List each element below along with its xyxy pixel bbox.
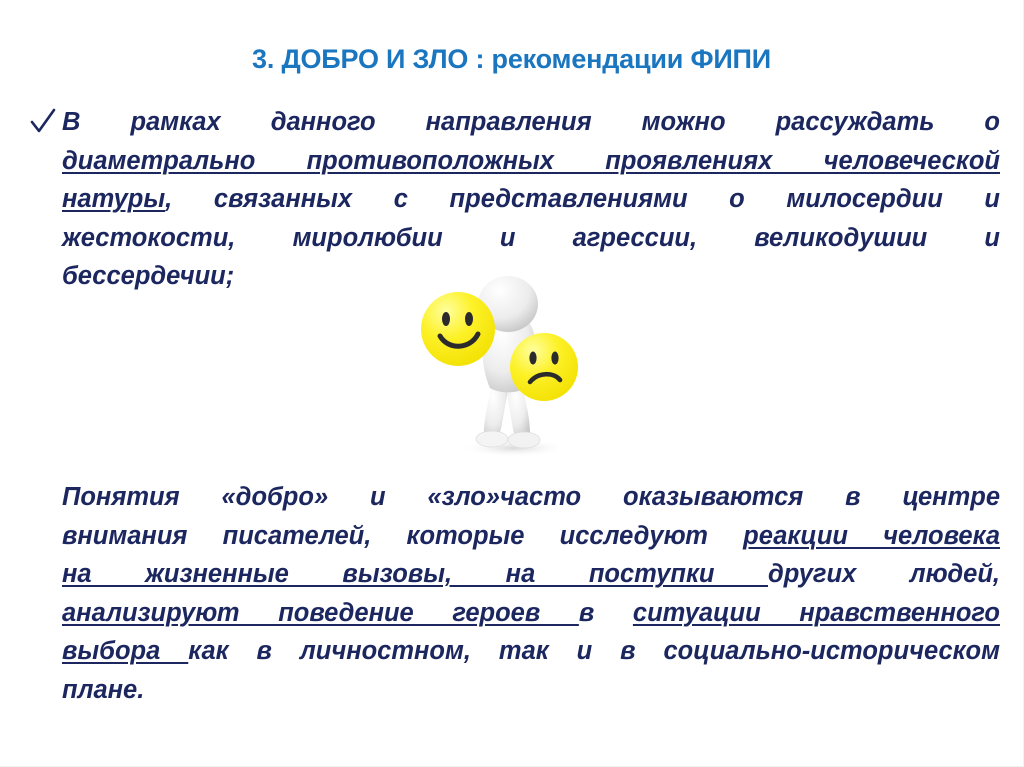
plain-text: В рамках данного направления можно рассу… [62,108,1000,136]
plain-text: других людей, [768,560,1000,588]
paragraph-bottom: Понятия «добро» и «зло»часто оказываются… [62,478,1000,709]
check-icon [30,108,56,136]
underlined-text: реакции человека [743,522,1000,550]
text-line: Понятия «добро» и «зло»часто оказываются… [62,478,1000,517]
slide-canvas: 3. ДОБРО И ЗЛО : рекомендации ФИПИ В рам… [0,0,1024,767]
text-line: жестокости, миролюбии и агрессии, велико… [62,219,1000,258]
underlined-text: диаметрально противоположных проявлениях… [62,147,1000,175]
underlined-text: ситуации нравственного [633,599,1000,627]
plain-text: плане. [62,676,144,704]
underlined-text: натуры [62,185,165,213]
underlined-text: выбора [62,637,188,665]
text-line: выбора как в личностном, так и в социаль… [62,632,1000,671]
plain-text: , связанных с представлениями о милосерд… [165,185,1000,213]
plain-text: внимания писателей, которые исследуют [62,522,743,550]
underlined-text: на жизненные вызовы, на поступки [62,560,768,588]
smiley-sad-icon [510,333,578,401]
plain-text: Понятия «добро» и «зло»часто оказываются… [62,483,1000,511]
text-line: анализируют поведение героев в ситуации … [62,594,1000,633]
plain-text: бессердечии; [62,262,234,290]
text-line: В рамках данного направления можно рассу… [62,103,1000,142]
page-title: 3. ДОБРО И ЗЛО : рекомендации ФИПИ [0,44,1023,75]
plain-text: жестокости, миролюбии и агрессии, велико… [62,224,1000,252]
underlined-text: анализируют поведение героев [62,599,579,627]
text-line: натуры, связанных с представлениями о ми… [62,180,1000,219]
text-line: диаметрально противоположных проявлениях… [62,142,1000,181]
text-line: на жизненные вызовы, на поступки других … [62,555,1000,594]
text-line: внимания писателей, которые исследуют ре… [62,517,1000,556]
smiley-happy-icon [421,292,495,366]
figure-holding-happy-and-sad-faces [402,268,634,458]
plain-text: как в личностном, так и в социально-исто… [188,637,1000,665]
paragraph-top: В рамках данного направления можно рассу… [62,103,1000,296]
plain-text: в [579,599,633,627]
text-line: плане. [62,671,1000,710]
